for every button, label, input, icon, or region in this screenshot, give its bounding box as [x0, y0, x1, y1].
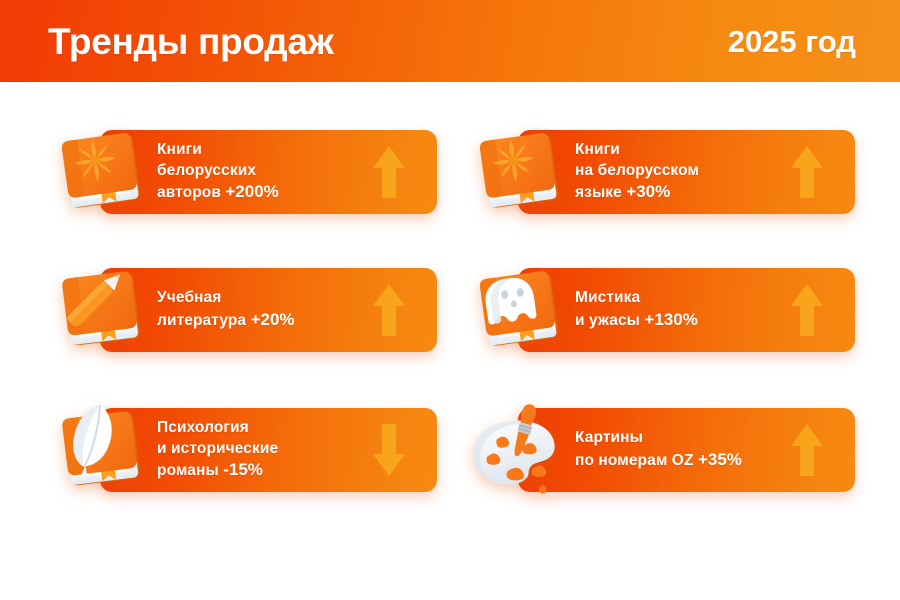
trend-card-line: Картины	[575, 428, 742, 449]
trend-card-line: языке +30%	[575, 181, 699, 204]
trend-card-line: на белорусском	[575, 161, 699, 182]
trend-percent: +35%	[698, 450, 742, 469]
page-title: Тренды продаж	[48, 23, 334, 60]
trend-card-line: и исторические	[157, 439, 278, 460]
arrow-up-icon	[371, 282, 407, 338]
infographic-page: Тренды продаж 2025 год Книгибелорусскиха…	[0, 0, 900, 600]
trend-card-line: Психология	[157, 418, 278, 439]
trend-card[interactable]: Книгина белорусскомязыке +30%	[518, 130, 855, 214]
trend-card-label: Психологияи историческиероманы -15%	[157, 418, 278, 482]
trend-percent: -15%	[223, 460, 263, 479]
trend-card-line: белорусских	[157, 161, 279, 182]
trend-percent: +30%	[626, 182, 670, 201]
trend-card-line: Книги	[157, 140, 279, 161]
trend-card-label: Книгина белорусскомязыке +30%	[575, 140, 699, 204]
trend-card[interactable]: Картиныпо номерам OZ +35%	[518, 408, 855, 492]
arrow-up-icon	[371, 144, 407, 200]
trend-card-line: Книги	[575, 140, 699, 161]
trend-card-line: по номерам OZ +35%	[575, 449, 742, 472]
trend-percent: +20%	[251, 310, 295, 329]
trend-card[interactable]: Психологияи историческиероманы -15%	[100, 408, 437, 492]
arrow-up-icon	[789, 282, 825, 338]
trend-percent: +130%	[644, 310, 697, 329]
trend-card-label: Мистикаи ужасы +130%	[575, 288, 698, 331]
header-year-label: 2025 год	[728, 26, 856, 57]
trend-card[interactable]: Мистикаи ужасы +130%	[518, 268, 855, 352]
trend-card[interactable]: Книгибелорусскихавторов +200%	[100, 130, 437, 214]
trend-card-label: Книгибелорусскихавторов +200%	[157, 140, 279, 204]
arrow-down-icon	[371, 422, 407, 478]
trend-card-line: романы -15%	[157, 459, 278, 482]
trend-card-label: Картиныпо номерам OZ +35%	[575, 428, 742, 471]
trend-percent: +200%	[225, 182, 278, 201]
trend-card-line: Учебная	[157, 288, 295, 309]
arrow-up-icon	[789, 422, 825, 478]
trend-card-line: литература +20%	[157, 309, 295, 332]
arrow-up-icon	[789, 144, 825, 200]
trend-card[interactable]: Учебнаялитература +20%	[100, 268, 437, 352]
trend-card-grid: Книгибелорусскихавторов +200%	[0, 82, 900, 600]
header-bar: Тренды продаж 2025 год	[0, 0, 900, 82]
trend-card-line: и ужасы +130%	[575, 309, 698, 332]
trend-card-line: авторов +200%	[157, 181, 279, 204]
trend-card-line: Мистика	[575, 288, 698, 309]
trend-card-label: Учебнаялитература +20%	[157, 288, 295, 331]
